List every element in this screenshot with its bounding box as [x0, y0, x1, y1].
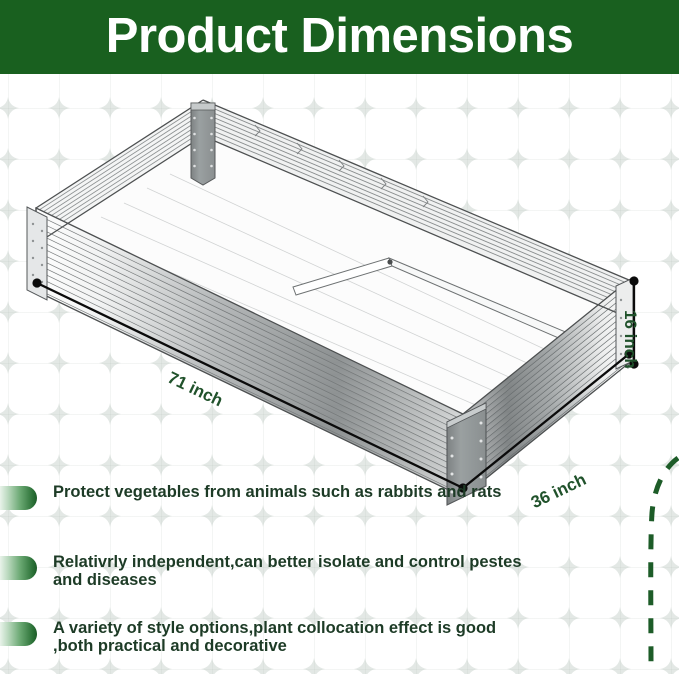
bullet-pill-icon — [0, 486, 37, 510]
feature-text-2: Relativrly independent,can better isolat… — [53, 554, 523, 590]
feature-text-1: Protect vegetables from animals such as … — [53, 484, 501, 502]
page-title: Product Dimensions — [106, 12, 573, 63]
bullet-pill-icon — [0, 556, 37, 580]
feature-item-1: Protect vegetables from animals such as … — [0, 484, 501, 510]
corner-post-back — [191, 103, 215, 185]
feature-text-3: A variety of style options,plant colloca… — [53, 620, 523, 656]
feature-item-3: A variety of style options,plant colloca… — [0, 620, 523, 656]
header-banner: Product Dimensions — [0, 0, 679, 74]
garden-bed-body — [27, 100, 633, 505]
feature-item-2: Relativrly independent,can better isolat… — [0, 554, 523, 590]
dimension-label-height: 16 inch — [620, 310, 640, 369]
bullet-pill-icon — [0, 622, 37, 646]
product-dimensions-infographic: Product Dimensions — [0, 0, 679, 674]
decorative-dashed-arc — [629, 455, 679, 674]
